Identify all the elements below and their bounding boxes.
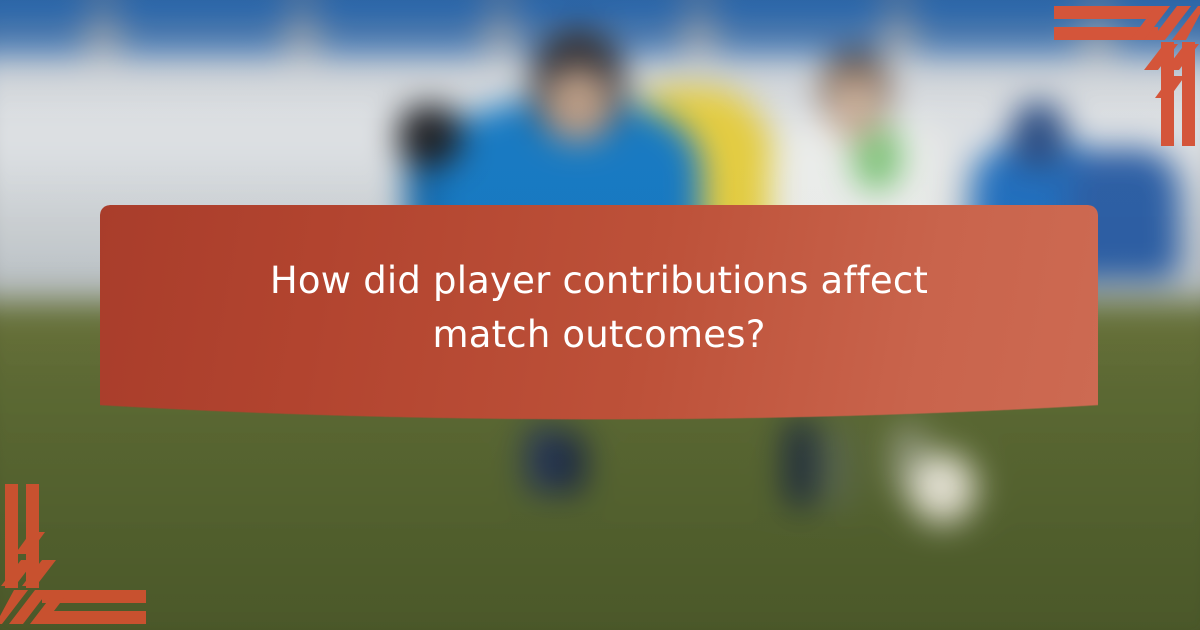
question-text: How did player contributions affect matc…	[179, 254, 1019, 371]
social-share-card: How did player contributions affect matc…	[0, 0, 1200, 630]
question-banner: How did player contributions affect matc…	[100, 205, 1098, 420]
